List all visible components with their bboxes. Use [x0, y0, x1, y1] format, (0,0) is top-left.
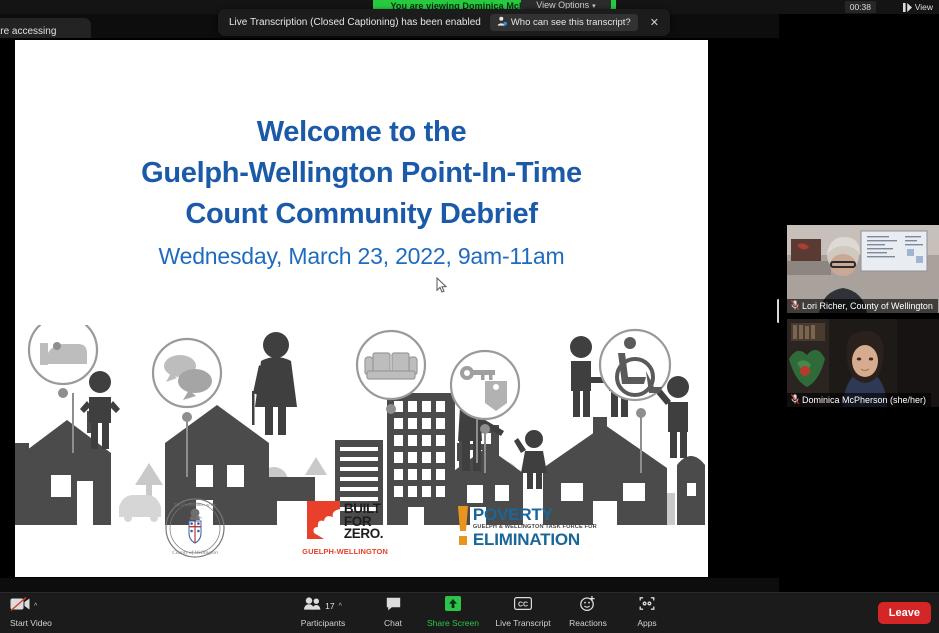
- participants-count: 17: [325, 601, 334, 611]
- live-transcript-label: Live Transcript: [495, 618, 550, 628]
- slide-subtitle: Wednesday, March 23, 2022, 9am-11am: [15, 243, 708, 270]
- video-tile-name-label: Lori Richer, County of Wellington: [787, 299, 938, 313]
- video-tile-lori-richer[interactable]: Lori Richer, County of Wellington: [787, 225, 939, 313]
- slide-title: Welcome to the Guelph-Wellington Point-I…: [15, 112, 708, 235]
- exclamation-mark-icon: [456, 506, 469, 551]
- bed-icon: [29, 325, 97, 398]
- participants-button[interactable]: 17 ^ Participants: [292, 596, 354, 628]
- bfz-word-3: ZERO.: [344, 528, 383, 541]
- svg-text:County of Wellington: County of Wellington: [172, 549, 218, 556]
- meeting-timer: 00:38: [845, 1, 876, 13]
- mouse-cursor-icon: [436, 277, 447, 298]
- closed-caption-icon: CC: [514, 597, 532, 615]
- maple-leaf-icon: [307, 501, 340, 544]
- participant-name: Lori Richer, County of Wellington: [802, 301, 933, 311]
- video-tile-name-label: Dominica McPherson (she/her): [787, 393, 931, 407]
- chat-label: Chat: [384, 618, 402, 628]
- slide-title-line-3: Count Community Debrief: [15, 194, 708, 235]
- poverty-elimination-logo: POVERTY GUELPH & WELLINGTON TASK FORCE F…: [456, 506, 597, 551]
- live-transcript-button[interactable]: CC Live Transcript: [492, 596, 554, 628]
- who-can-see-transcript-link[interactable]: Who can see this transcript?: [490, 14, 638, 31]
- share-screen-label: Share Screen: [427, 618, 479, 628]
- zoom-meeting-window: You are viewing Dominica McPherso...'s S…: [0, 0, 939, 633]
- apps-label: Apps: [637, 618, 656, 628]
- start-video-label: Start Video: [10, 618, 52, 628]
- muted-microphone-icon: [791, 300, 799, 312]
- meeting-controls-toolbar: ^ Start Video 17 ^ Participants: [0, 592, 939, 633]
- slide-logos: The Corporation of the County of Welling…: [15, 497, 708, 559]
- participants-label: Participants: [301, 618, 345, 628]
- wheelchair-accessibility-icon: [600, 330, 670, 418]
- pe-top-word: POVERTY: [473, 506, 597, 523]
- person-icon: [497, 16, 507, 29]
- chat-bubble-icon: [386, 597, 401, 616]
- participant-name: Dominica McPherson (she/her): [802, 395, 926, 405]
- participants-caret-icon[interactable]: ^: [339, 603, 342, 610]
- muted-microphone-icon: [791, 394, 799, 406]
- grid-view-icon: [903, 3, 912, 12]
- presentation-slide: Welcome to the Guelph-Wellington Point-I…: [15, 40, 708, 577]
- video-tile-dominica-mcpherson[interactable]: Dominica McPherson (she/her): [787, 319, 939, 407]
- toast-message: Live Transcription (Closed Captioning) h…: [229, 17, 481, 28]
- pe-middle-text: GUELPH & WELLINGTON TASK FORCE FOR: [473, 524, 597, 530]
- participants-icon: [304, 597, 321, 615]
- apps-button[interactable]: Apps: [616, 596, 678, 628]
- slide-illustration: [15, 325, 708, 525]
- leave-button[interactable]: Leave: [878, 602, 931, 624]
- reactions-button[interactable]: Reactions: [557, 596, 619, 628]
- video-filmstrip: Lori Richer, County of Wellington: [779, 14, 939, 595]
- built-for-zero-logo: BUILT FOR ZERO. GUELPH-WELLINGTON: [302, 501, 388, 556]
- pe-bottom-word: ELIMINATION: [473, 531, 597, 548]
- shared-screen-area: Welcome to the Guelph-Wellington Point-I…: [0, 38, 779, 578]
- chat-button[interactable]: Chat: [362, 596, 424, 628]
- start-video-button[interactable]: ^ Start Video: [2, 596, 82, 628]
- close-icon[interactable]: ✕: [647, 16, 662, 29]
- privacy-tooltip-line1: hat are accessing: [0, 24, 83, 39]
- share-screen-button[interactable]: Share Screen: [422, 596, 484, 628]
- reactions-label: Reactions: [569, 618, 607, 628]
- live-transcription-toast: Live Transcription (Closed Captioning) h…: [218, 9, 670, 36]
- bfz-subtitle: GUELPH-WELLINGTON: [302, 547, 388, 556]
- who-can-see-transcript-label: Who can see this transcript?: [511, 17, 631, 28]
- smiley-reaction-icon: [580, 596, 596, 616]
- view-button-label: View: [915, 2, 933, 12]
- slide-title-line-2: Guelph-Wellington Point-In-Time: [15, 153, 708, 194]
- view-layout-button[interactable]: View: [899, 1, 937, 13]
- apps-grid-icon: [639, 596, 655, 616]
- video-options-caret-icon[interactable]: ^: [34, 603, 37, 610]
- slide-title-line-1: Welcome to the: [15, 112, 708, 153]
- county-of-wellington-logo: The Corporation of the County of Welling…: [156, 497, 234, 559]
- svg-text:CC: CC: [518, 601, 528, 608]
- video-off-icon: [10, 597, 30, 616]
- svg-text:The Corporation of the: The Corporation of the: [174, 502, 217, 507]
- share-screen-icon: [445, 596, 461, 616]
